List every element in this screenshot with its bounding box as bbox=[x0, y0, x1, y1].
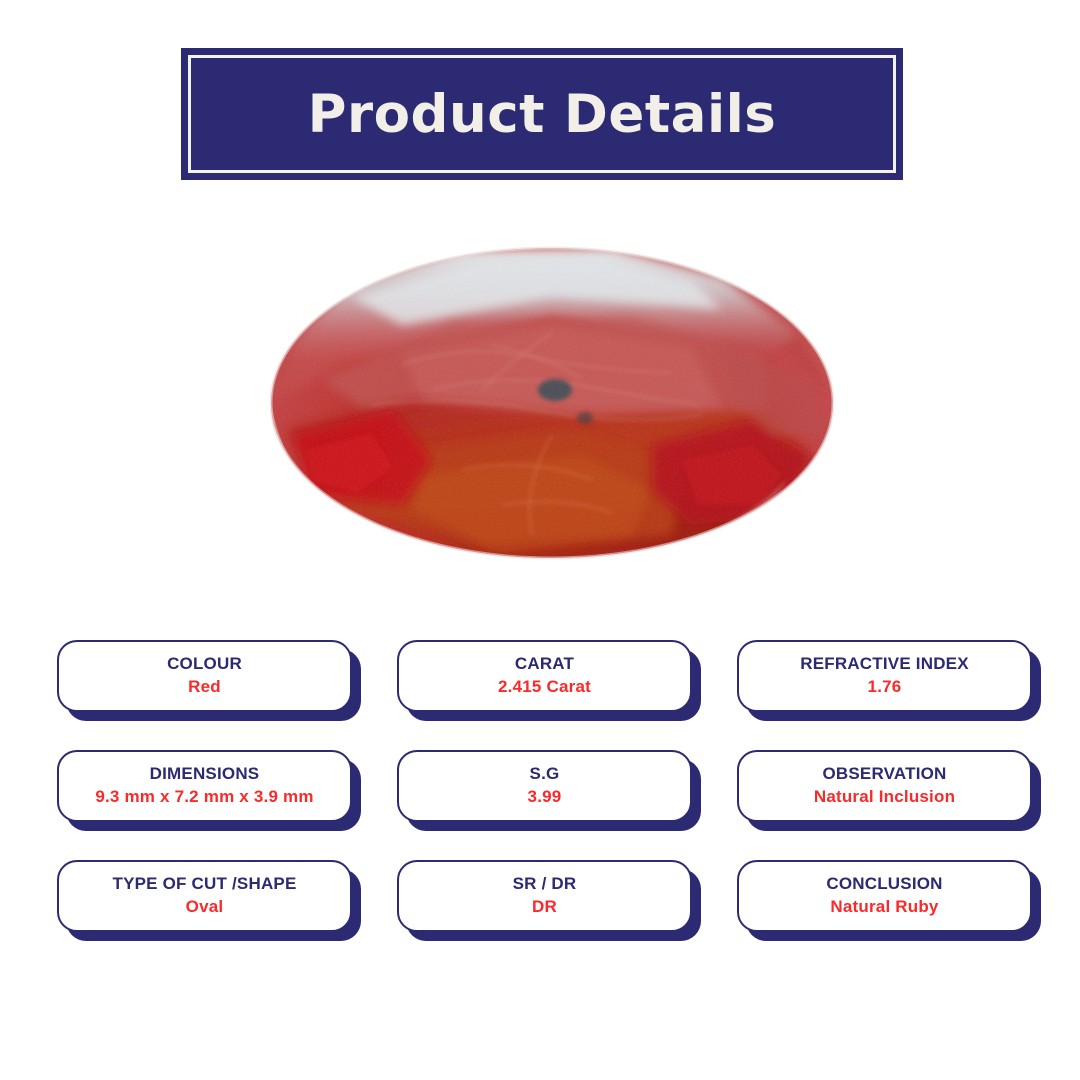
spec-card-sg: S.G 3.99 bbox=[397, 750, 692, 822]
gemstone-body bbox=[252, 205, 852, 605]
spec-card-dimensions: DIMENSIONS 9.3 mm x 7.2 mm x 3.9 mm bbox=[57, 750, 352, 822]
spec-value: DR bbox=[532, 897, 557, 918]
spec-label: DIMENSIONS bbox=[150, 764, 260, 785]
page-title: Product Details bbox=[308, 88, 777, 141]
spec-value: Oval bbox=[186, 897, 224, 918]
spec-card-observation: OBSERVATION Natural Inclusion bbox=[737, 750, 1032, 822]
spec-label: OBSERVATION bbox=[822, 764, 946, 785]
spec-card-type-of-cut-shape: TYPE OF CUT /SHAPE Oval bbox=[57, 860, 352, 932]
spec-label: CONCLUSION bbox=[826, 874, 942, 895]
page-header-inner-frame: Product Details bbox=[188, 55, 896, 173]
spec-label: COLOUR bbox=[167, 654, 242, 675]
spec-label: SR / DR bbox=[513, 874, 577, 895]
spec-card-colour: COLOUR Red bbox=[57, 640, 352, 712]
spec-value: 3.99 bbox=[528, 787, 562, 808]
spec-value: 2.415 Carat bbox=[498, 677, 591, 698]
product-spec-grid: COLOUR Red CARAT 2.415 Carat REFRACTIVE … bbox=[57, 640, 1032, 932]
spec-card-sr-dr: SR / DR DR bbox=[397, 860, 692, 932]
spec-card-conclusion: CONCLUSION Natural Ruby bbox=[737, 860, 1032, 932]
spec-value: Natural Ruby bbox=[830, 897, 938, 918]
gemstone-photo bbox=[252, 205, 852, 605]
spec-label: CARAT bbox=[515, 654, 574, 675]
spec-value: 1.76 bbox=[868, 677, 902, 698]
product-image-stage bbox=[0, 205, 1080, 605]
spec-card-refractive-index: REFRACTIVE INDEX 1.76 bbox=[737, 640, 1032, 712]
spec-label: TYPE OF CUT /SHAPE bbox=[112, 874, 296, 895]
spec-value: Natural Inclusion bbox=[814, 787, 955, 808]
spec-label: S.G bbox=[530, 764, 560, 785]
spec-value: Red bbox=[188, 677, 221, 698]
spec-value: 9.3 mm x 7.2 mm x 3.9 mm bbox=[95, 787, 313, 808]
page-header-banner: Product Details bbox=[181, 48, 903, 180]
spec-label: REFRACTIVE INDEX bbox=[800, 654, 969, 675]
spec-card-carat: CARAT 2.415 Carat bbox=[397, 640, 692, 712]
